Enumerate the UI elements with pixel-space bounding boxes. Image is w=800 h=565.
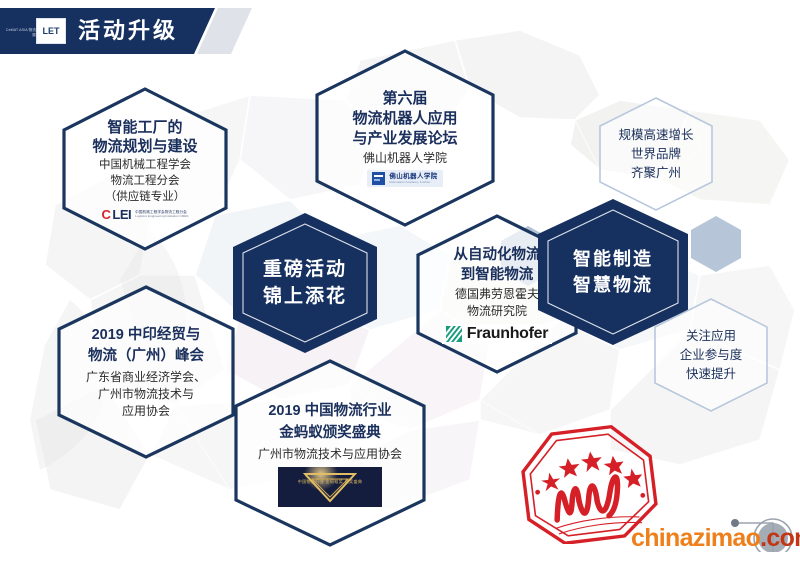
hex-sub-line: 佛山机器人学院 [363, 150, 447, 167]
golden-ant-triangle-icon [303, 472, 357, 503]
watermark: chinazimao.com [629, 522, 797, 556]
hex-sub-line: 应用协会 [122, 403, 170, 420]
watermark-tld: .com [760, 524, 800, 552]
hex-sub-line: 广东省商业经济学会、 [86, 369, 206, 386]
hex-title-line: 与产业发展论坛 [352, 129, 457, 149]
hex-sub-line: 物流研究院 [467, 303, 527, 320]
foshan-robotics-logo: 佛山机器人学院 Robotation Academy Foshan [367, 170, 442, 187]
hex-sub-line: 关注应用 [686, 327, 736, 346]
hex-sub-line: 规模高速增长 [618, 126, 693, 145]
hex-sub-line: 中国机械工程学会 [99, 157, 191, 173]
header-banner: CeMAT ASIA 物流展 LET 活动升级 [0, 8, 275, 54]
hex-title-line: 智能制造 [573, 246, 653, 272]
hex-sub-line: 德国弗劳恩霍夫 [455, 286, 539, 303]
hexagon-headline-center[interactable]: 重磅活动 锦上添花 [232, 212, 378, 354]
hex-title-line: 物流机器人应用 [352, 109, 457, 129]
hex-title-line: 智慧物流 [573, 272, 653, 298]
fraunhofer-logo: Fraunhofer [442, 324, 552, 344]
hex-sub-line: 企业参与度 [680, 346, 743, 365]
hexagon-golden-ant-awards[interactable]: 2019 中国物流行业 金蚂蚁颁奖盛典 广州市物流技术与应用协会 中国物流行业 … [232, 358, 428, 548]
poster-canvas: CeMAT ASIA 物流展 LET 活动升级 智能工厂的 物流规划与建设 中国… [0, 0, 800, 565]
fraunhofer-wordmark: Fraunhofer [467, 326, 548, 342]
decor-hexagon-2 [690, 215, 742, 278]
golden-ant-logo: 中国物流行业 金蚂蚁奖 颁奖盛典 [278, 467, 382, 507]
hex-title-line: 重磅活动 [263, 256, 347, 283]
watermark-text: chinazimao.com [631, 524, 800, 552]
hex-title-line: 到智能物流 [461, 265, 534, 285]
hex-title-line: 2019 中国物流行业 [268, 400, 391, 422]
hexagon-india-china-summit[interactable]: 2019 中印经贸与 物流（广州）峰会 广东省商业经济学会、 广州市物流技术与 … [55, 284, 237, 460]
hex-title-line: 物流（广州）峰会 [88, 346, 204, 367]
watermark-name: chinazimao [631, 524, 760, 552]
golden-ant-logo-cn: 中国物流行业 金蚂蚁奖 颁奖盛典 [278, 479, 382, 484]
hex-sub-line: 物流工程分会 [111, 173, 180, 189]
hex-title-line: 锦上添花 [263, 283, 347, 310]
clei-logo-c: C [102, 208, 111, 221]
hex-title-line: 2019 中印经贸与 [92, 325, 201, 346]
hex-title-line: 智能工厂的 [107, 118, 182, 137]
hex-sub-line: 齐聚广州 [631, 164, 681, 183]
hex-title-line: 第六届 [382, 89, 427, 109]
let-logo: LET [36, 18, 66, 44]
let-logo-text: LET [43, 27, 60, 36]
hex-sub-line: 世界品牌 [631, 145, 681, 164]
page-title: 活动升级 [78, 19, 178, 43]
hexagon-application-focus[interactable]: 关注应用 企业参与度 快速提升 [652, 297, 770, 413]
fraunhofer-mark-icon [446, 326, 462, 342]
hex-title-line: 物流规划与建设 [92, 137, 197, 156]
clei-logo-en: Logistics Engineering Institution CMES [135, 214, 188, 218]
foshan-robotics-cn: 佛山机器人学院 [389, 173, 437, 180]
hex-sub-line: 快速提升 [686, 365, 736, 384]
clei-logo: C LEI 中国机械工程学会物流工程分会 Logistics Engineeri… [102, 208, 189, 221]
clei-logo-lei: LEI [112, 208, 131, 221]
hexagon-smart-factory[interactable]: 智能工厂的 物流规划与建设 中国机械工程学会 物流工程分会 （供应链专业） C … [60, 86, 230, 252]
foshan-robotics-mark-icon [372, 172, 385, 185]
hexagon-growth-brands[interactable]: 规模高速增长 世界品牌 齐聚广州 [597, 96, 715, 212]
hex-title-line: 金蚂蚁颁奖盛典 [279, 422, 381, 444]
hex-sub-line: 广州市物流技术与应用协会 [258, 445, 402, 463]
hex-sub-line: （供应链专业） [105, 189, 186, 205]
hexagon-robot-forum[interactable]: 第六届 物流机器人应用 与产业发展论坛 佛山机器人学院 佛山机器人学院 Robo… [313, 48, 497, 228]
hex-title-line: 从自动化物流 [454, 245, 541, 265]
foshan-robotics-en: Robotation Academy Foshan [389, 180, 430, 184]
hex-sub-line: 广州市物流技术与 [98, 386, 194, 403]
header-logo-subtext: CeMAT ASIA 物流展 [4, 28, 36, 37]
